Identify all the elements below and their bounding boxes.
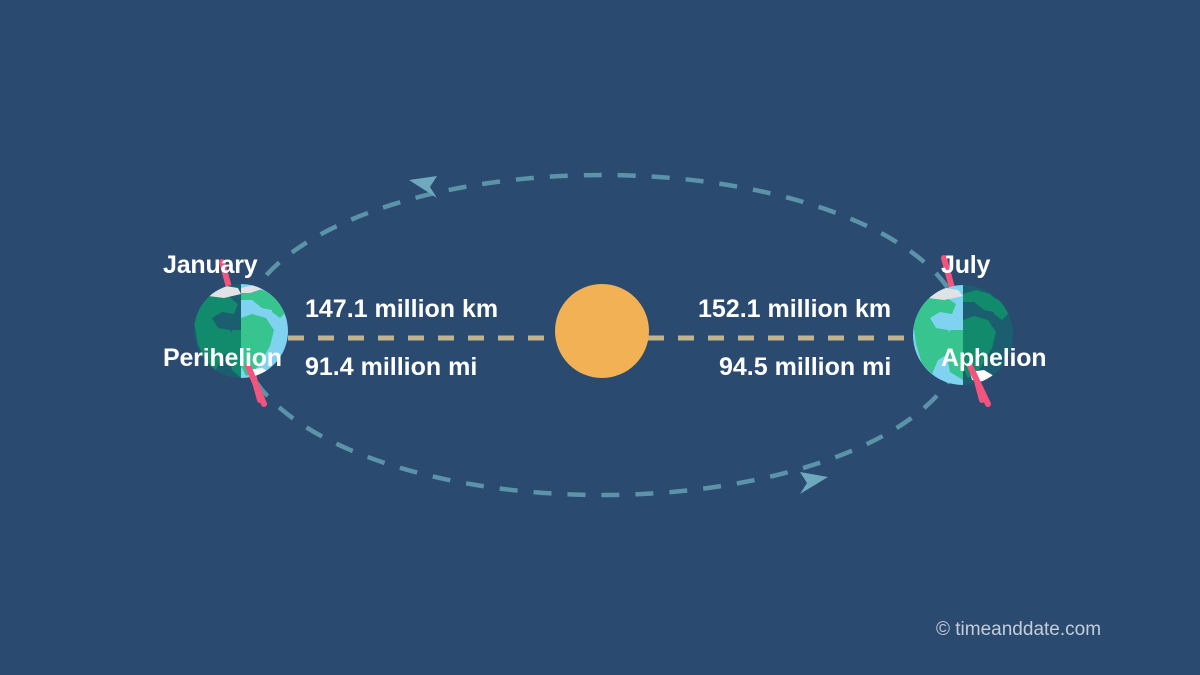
distance-aphelion-mi: 94.5 million mi xyxy=(719,352,891,382)
label-july-aphelion: July Aphelion xyxy=(941,188,1046,436)
label-january-perihelion: January Perihelion xyxy=(163,188,282,436)
label-july-line1: July xyxy=(941,250,1046,281)
label-january-line2: Perihelion xyxy=(163,343,282,374)
sun xyxy=(555,284,649,378)
distance-perihelion-mi: 91.4 million mi xyxy=(305,352,477,382)
label-january-line1: January xyxy=(163,250,282,281)
watermark-timeanddate: © timeanddate.com xyxy=(936,619,1101,641)
label-july-line2: Aphelion xyxy=(941,343,1046,374)
distance-aphelion-km: 152.1 million km xyxy=(698,294,891,324)
orbit-arrow-bottom-right-icon xyxy=(800,472,828,494)
distance-perihelion-km: 147.1 million km xyxy=(305,294,498,324)
diagram-canvas: January Perihelion July Aphelion 147.1 m… xyxy=(0,0,1200,675)
